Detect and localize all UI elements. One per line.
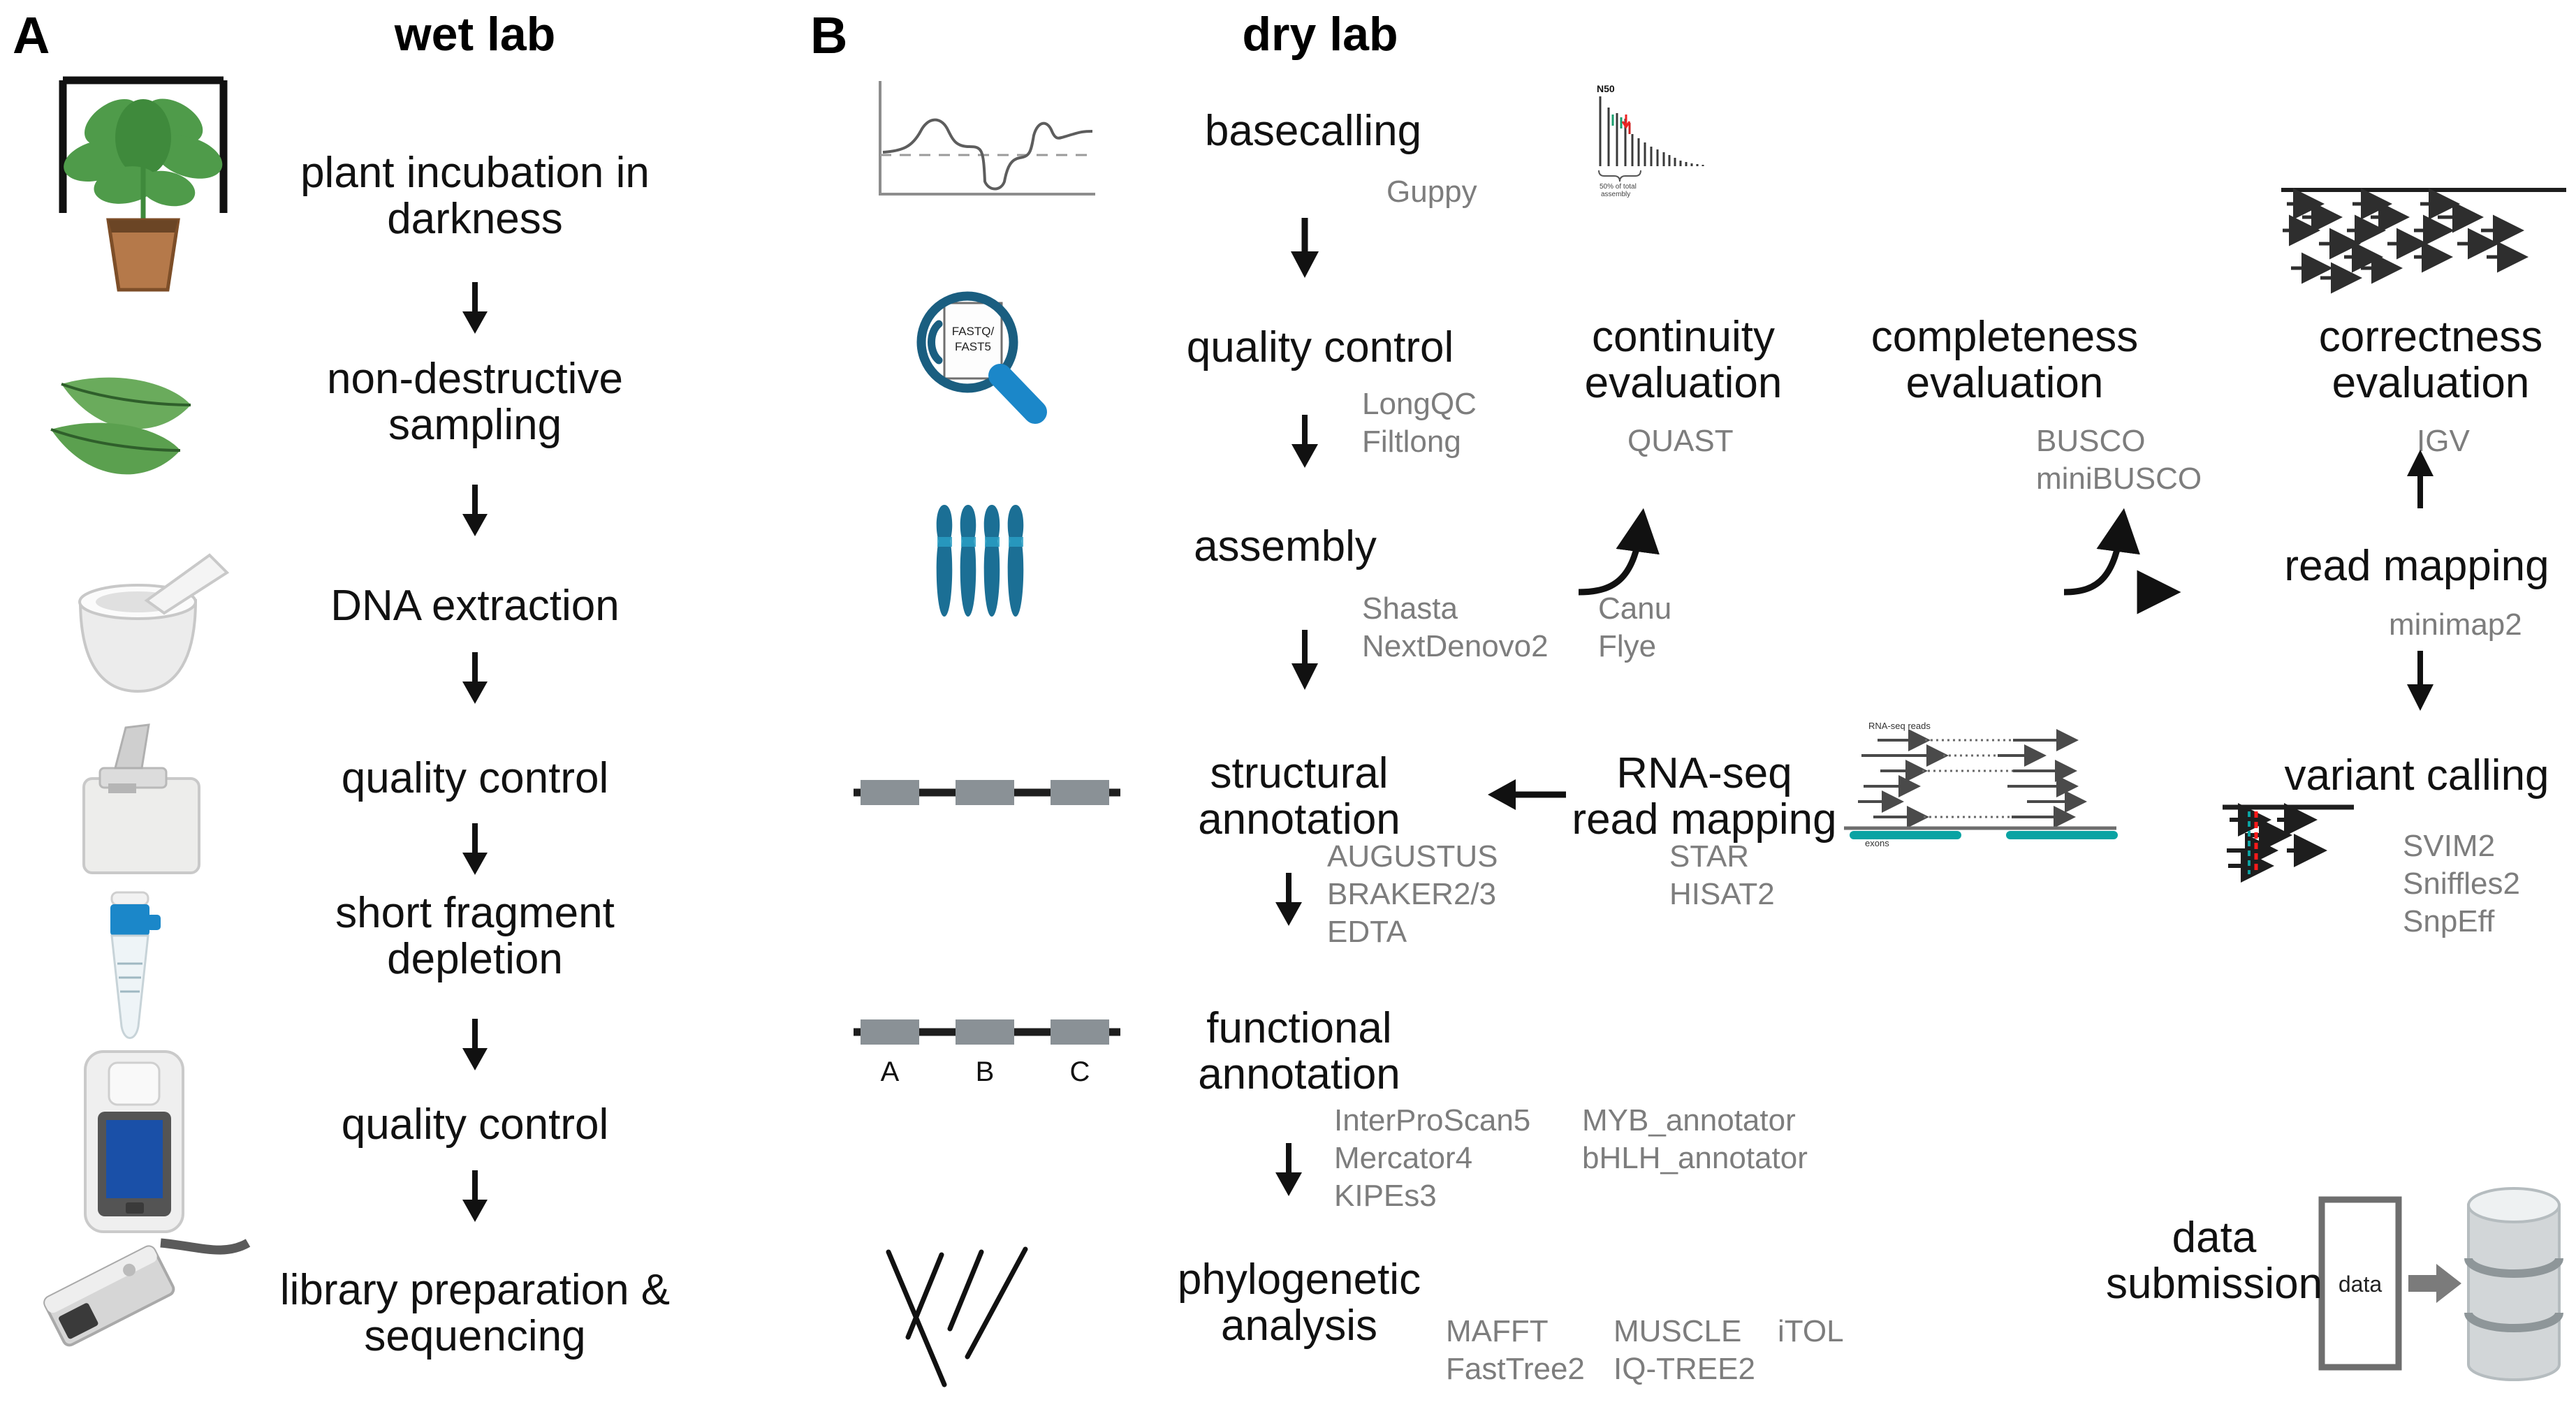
dry-tools-func-left-0: InterProScan5 [1334,1102,1530,1140]
spectrophotometer-icon [66,719,220,880]
dry-tools-struct-0: AUGUSTUS [1327,838,1498,876]
dry-arrow-3 [1271,871,1306,927]
dry-arrow-2 [1287,628,1322,691]
n50-contig-plot-icon: N50 50% of total assembly [1591,82,1766,194]
eval-tools-completeness-1: miniBUSCO [2036,460,2202,498]
fastq-fast5-magnifier-icon: FASTQ/ FAST5 [895,288,1070,455]
right-tools-variant-2: SnpEff [2403,903,2494,941]
wet-arrow-4 [458,1016,492,1072]
rnaseq-splice-mapping-icon: RNA-seq reads exons [1837,719,2137,845]
dry-step-label-basecalling: basecalling [1132,108,1495,154]
wet-step-label-4: short fragment depletion [279,890,671,982]
dry-tools-qc-0: LongQC [1362,385,1477,423]
fluorometer-icon [77,1047,192,1236]
rnaseq-to-structural-arrow [1485,775,1569,814]
dry-step-label-functional-annotation: functional annotation [1132,1005,1467,1097]
eval-label-completeness: completeness evaluation [1844,314,2165,406]
eval-tools-completeness-0: BUSCO [2036,422,2145,460]
gene-model-labeled-icon: A B C [851,1011,1123,1091]
wet-step-label-5: quality control [279,1102,671,1148]
right-step-label-variant-calling: variant calling [2263,753,2570,799]
wet-arrow-3 [458,820,492,876]
svg-text:50% of total: 50% of total [1600,183,1637,191]
rnaseq-tools-1: HISAT2 [1669,876,1775,913]
signal-trace-icon [872,77,1102,202]
dry-lab-title: dry lab [1104,7,1537,61]
variant-reads-icon [2220,802,2394,899]
microcentrifuge-tube-icon [82,887,180,1061]
gene-model-icon [851,772,1123,813]
wet-step-label-0: plant incubation in darkness [279,150,671,242]
right-tools-read-mapping-0: minimap2 [2389,606,2522,644]
dry-tools-func-left-1: Mercator4 [1334,1140,1472,1177]
nanopore-sequencer-icon [38,1229,255,1369]
wet-arrow-5 [458,1167,492,1223]
read-mapping-up-arrow [2403,447,2438,510]
svg-text:assembly: assembly [1601,191,1630,198]
leaves-icon [34,363,229,496]
read-alignment-icon [2277,183,2570,274]
panel-a-letter: A [13,6,49,65]
eval-tools-continuity-0: QUAST [1627,422,1734,460]
wet-step-label-6: library preparation & sequencing [258,1267,691,1359]
wet-step-label-1: non-destructive sampling [279,356,671,448]
svg-text:FAST5: FAST5 [955,340,991,353]
svg-text:A: A [881,1056,900,1087]
eval-label-correctness: correctness evaluation [2291,314,2570,406]
right-tools-variant-0: SVIM2 [2403,827,2495,865]
mortar-and-pestle-icon [59,552,234,705]
dry-step-label-assembly: assembly [1132,524,1439,570]
dry-arrow-4 [1271,1142,1306,1198]
dry-arrow-1 [1287,413,1322,469]
svg-text:exons: exons [1865,838,1889,848]
dry-tools-func-right-0: MYB_annotator [1582,1102,1796,1140]
dry-tools-phylo-left-0: MAFFT [1446,1313,1549,1350]
dry-step-label-phylogenetic-analysis: phylogenetic analysis [1132,1257,1467,1348]
dry-tools-struct-1: BRAKER2/3 [1327,876,1496,913]
phylogenetic-tree-icon [866,1239,1076,1390]
svg-text:FASTQ/: FASTQ/ [952,325,995,338]
svg-text:N50: N50 [1597,83,1615,94]
rnaseq-label: RNA-seq read mapping [1558,751,1851,842]
right-tools-variant-1: Sniffles2 [2403,865,2520,903]
data-submission-label: data submission [2081,1215,2347,1306]
rnaseq-tools-0: STAR [1669,838,1749,876]
plant-in-growth-chamber-icon [49,73,237,304]
svg-text:B: B [976,1056,995,1087]
dry-tools-phylo-mid-1: IQ-TREE2 [1613,1350,1755,1388]
dry-tools-assembly-left-0: Shasta [1362,590,1458,628]
right-step-label-read-mapping: read mapping [2263,543,2570,589]
dry-tools-struct-2: EDTA [1327,913,1407,951]
panel-b-letter: B [810,6,847,65]
chromosomes-icon [936,499,1027,625]
assembly-evaluation-arrow [1467,510,2214,635]
dry-tools-basecalling: Guppy [1386,173,1477,211]
wet-step-label-3: quality control [279,756,671,802]
svg-text:C: C [1070,1056,1090,1087]
dry-tools-qc-1: Filtlong [1362,423,1461,461]
dry-tools-phylo-mid-0: MUSCLE [1613,1313,1741,1350]
wet-arrow-2 [458,649,492,705]
wet-arrow-0 [458,279,492,335]
dry-tools-phylo-right-0: iTOL [1778,1313,1844,1350]
wet-arrow-1 [458,482,492,538]
dry-tools-func-left-2: KIPEs3 [1334,1177,1437,1215]
dry-tools-func-right-1: bHLH_annotator [1582,1140,1808,1177]
dry-arrow-0 [1287,216,1322,279]
eval-label-continuity: continuity evaluation [1558,314,1809,406]
dry-step-label-structural-annotation: structural annotation [1132,751,1467,842]
dry-step-label-quality-control: quality control [1132,325,1509,371]
wet-lab-title: wet lab [300,7,650,61]
wet-step-label-2: DNA extraction [279,583,671,629]
svg-text:RNA-seq reads: RNA-seq reads [1868,721,1931,731]
database-upload-icon: data [2319,1180,2563,1390]
dry-tools-phylo-left-1: FastTree2 [1446,1350,1585,1388]
right-arrow-0 [2403,649,2438,712]
